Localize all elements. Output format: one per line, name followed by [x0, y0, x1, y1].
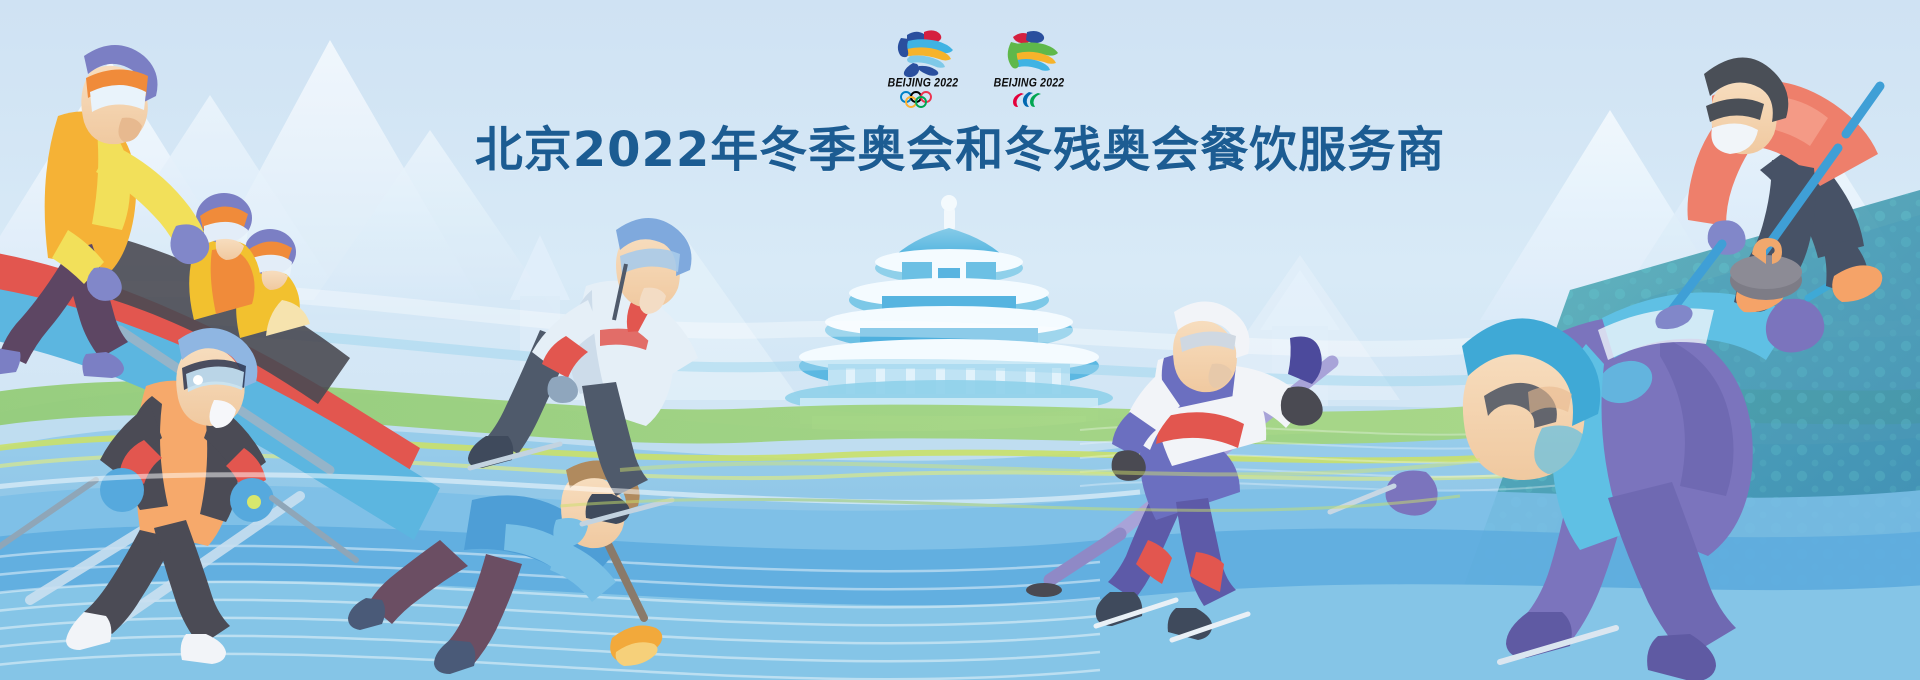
- paralympic-emblem[interactable]: BEIJING 2022: [983, 26, 1075, 108]
- olympic-wordmark: BEIJING 2022: [888, 76, 959, 89]
- leap-ribbon-mark: [991, 26, 1067, 78]
- paralympic-wordmark: BEIJING 2022: [994, 76, 1065, 89]
- olympic-emblem[interactable]: BEIJING 2022: [877, 26, 969, 108]
- beijing-2022-catering-banner: BEIJING 2022 BEIJING 2022: [0, 0, 1920, 680]
- agitos: [1009, 91, 1049, 108]
- olympic-rings: [897, 91, 949, 108]
- banner-title: 北京2022年冬季奥会和冬残奥会餐饮服务商: [0, 124, 1920, 177]
- emblem-group: BEIJING 2022 BEIJING 2022: [876, 26, 1076, 118]
- winter-dream-ribbon-mark: [885, 26, 961, 78]
